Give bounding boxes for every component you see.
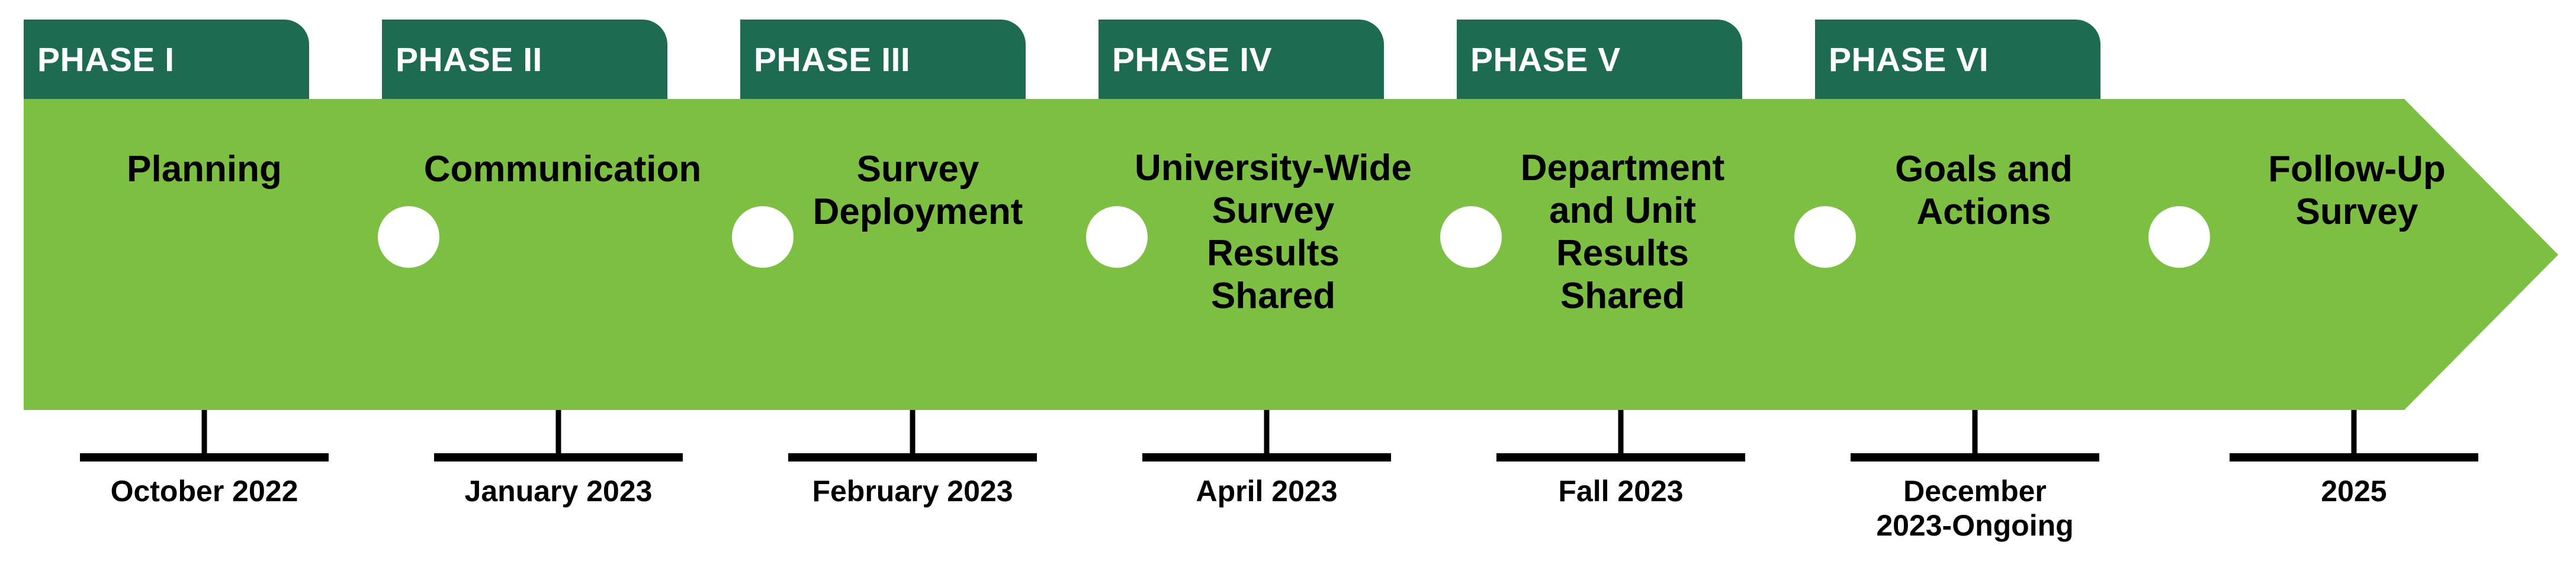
phase-title-3: Survey Deployment: [776, 148, 1060, 233]
phase-header-label-6: PHASE VI: [1829, 43, 1989, 77]
phase-title-4: University-Wide Survey Results Shared: [1113, 147, 1433, 318]
date-label-7: 2025: [2206, 474, 2502, 508]
connector-circle-1: [382, 210, 435, 264]
phase-header-label-5: PHASE V: [1470, 43, 1621, 77]
date-tick-1: [80, 410, 329, 457]
date-label-6: December 2023-Ongoing: [1827, 474, 2123, 543]
phase-header-shapes: [24, 20, 2100, 99]
date-label-5: Fall 2023: [1473, 474, 1769, 508]
date-label-4: April 2023: [1119, 474, 1415, 508]
phase-header-label-3: PHASE III: [754, 43, 910, 77]
phase-title-1: Planning: [65, 148, 343, 191]
date-tick-marks: [80, 410, 2478, 457]
date-tick-7: [2230, 410, 2478, 457]
date-tick-5: [1496, 410, 1745, 457]
date-tick-3: [788, 410, 1037, 457]
phase-timeline-diagram: PHASE I PHASE II PHASE III PHASE IV PHAS…: [0, 0, 2576, 580]
connector-circle-6: [2153, 210, 2206, 264]
date-label-3: February 2023: [765, 474, 1061, 508]
phase-title-7: Follow-Up Survey: [2215, 148, 2499, 233]
date-tick-4: [1142, 410, 1391, 457]
date-label-1: October 2022: [56, 474, 352, 508]
phase-title-6: Goals and Actions: [1842, 148, 2126, 233]
phase-header-label-4: PHASE IV: [1112, 43, 1272, 77]
phase-title-5: Department and Unit Results Shared: [1480, 147, 1765, 318]
phase-header-label-1: PHASE I: [37, 43, 175, 77]
date-label-2: January 2023: [410, 474, 706, 508]
date-tick-6: [1851, 410, 2099, 457]
phase-title-2: Communication: [409, 148, 717, 191]
phase-header-label-2: PHASE II: [396, 43, 542, 77]
date-tick-2: [434, 410, 683, 457]
